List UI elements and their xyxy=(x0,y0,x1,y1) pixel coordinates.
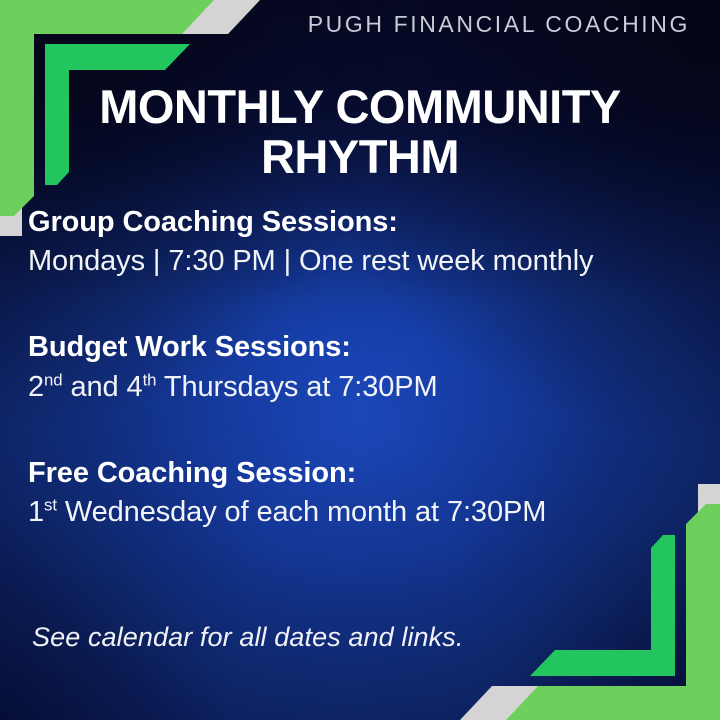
schedule-item-budget-work: Budget Work Sessions: 2nd and 4th Thursd… xyxy=(28,328,696,407)
schedule-detail: Mondays | 7:30 PM | One rest week monthl… xyxy=(28,241,696,282)
poster-content: PUGH FINANCIAL COACHING MONTHLY COMMUNIT… xyxy=(0,0,720,720)
schedule-heading: Free Coaching Session: xyxy=(28,454,696,492)
calendar-footnote: See calendar for all dates and links. xyxy=(32,622,463,653)
brand-name: PUGH FINANCIAL COACHING xyxy=(308,11,690,38)
schedule-ordinal-suffix: th xyxy=(143,370,157,389)
schedule-detail-prefix: Mondays | 7:30 PM | One rest week monthl… xyxy=(28,245,593,277)
schedule-detail: 1st Wednesday of each month at 7:30PM xyxy=(28,492,696,533)
schedule-detail-mid: Wednesday of each month at 7:30PM xyxy=(57,496,546,528)
schedule-detail-prefix: 1 xyxy=(28,496,44,528)
schedule-detail: 2nd and 4th Thursdays at 7:30PM xyxy=(28,367,696,408)
schedule-detail-mid: and 4 xyxy=(63,371,143,403)
poster-canvas: PUGH FINANCIAL COACHING MONTHLY COMMUNIT… xyxy=(0,0,720,720)
schedule-detail-prefix: 2 xyxy=(28,371,44,403)
page-title-line-2: RHYTHM xyxy=(60,132,660,182)
schedule-heading: Budget Work Sessions: xyxy=(28,328,696,366)
page-title: MONTHLY COMMUNITY RHYTHM xyxy=(0,82,720,183)
schedule-ordinal-suffix: nd xyxy=(44,370,63,389)
schedule-heading: Group Coaching Sessions: xyxy=(28,203,696,241)
schedule-item-group-coaching: Group Coaching Sessions: Mondays | 7:30 … xyxy=(28,203,696,282)
schedule-item-free-coaching: Free Coaching Session: 1st Wednesday of … xyxy=(28,454,696,533)
schedule-ordinal-suffix: st xyxy=(44,495,57,514)
page-title-line-1: MONTHLY COMMUNITY xyxy=(60,82,660,132)
schedule-detail-suffix: Thursdays at 7:30PM xyxy=(156,371,437,403)
schedule-list: Group Coaching Sessions: Mondays | 7:30 … xyxy=(28,203,696,533)
